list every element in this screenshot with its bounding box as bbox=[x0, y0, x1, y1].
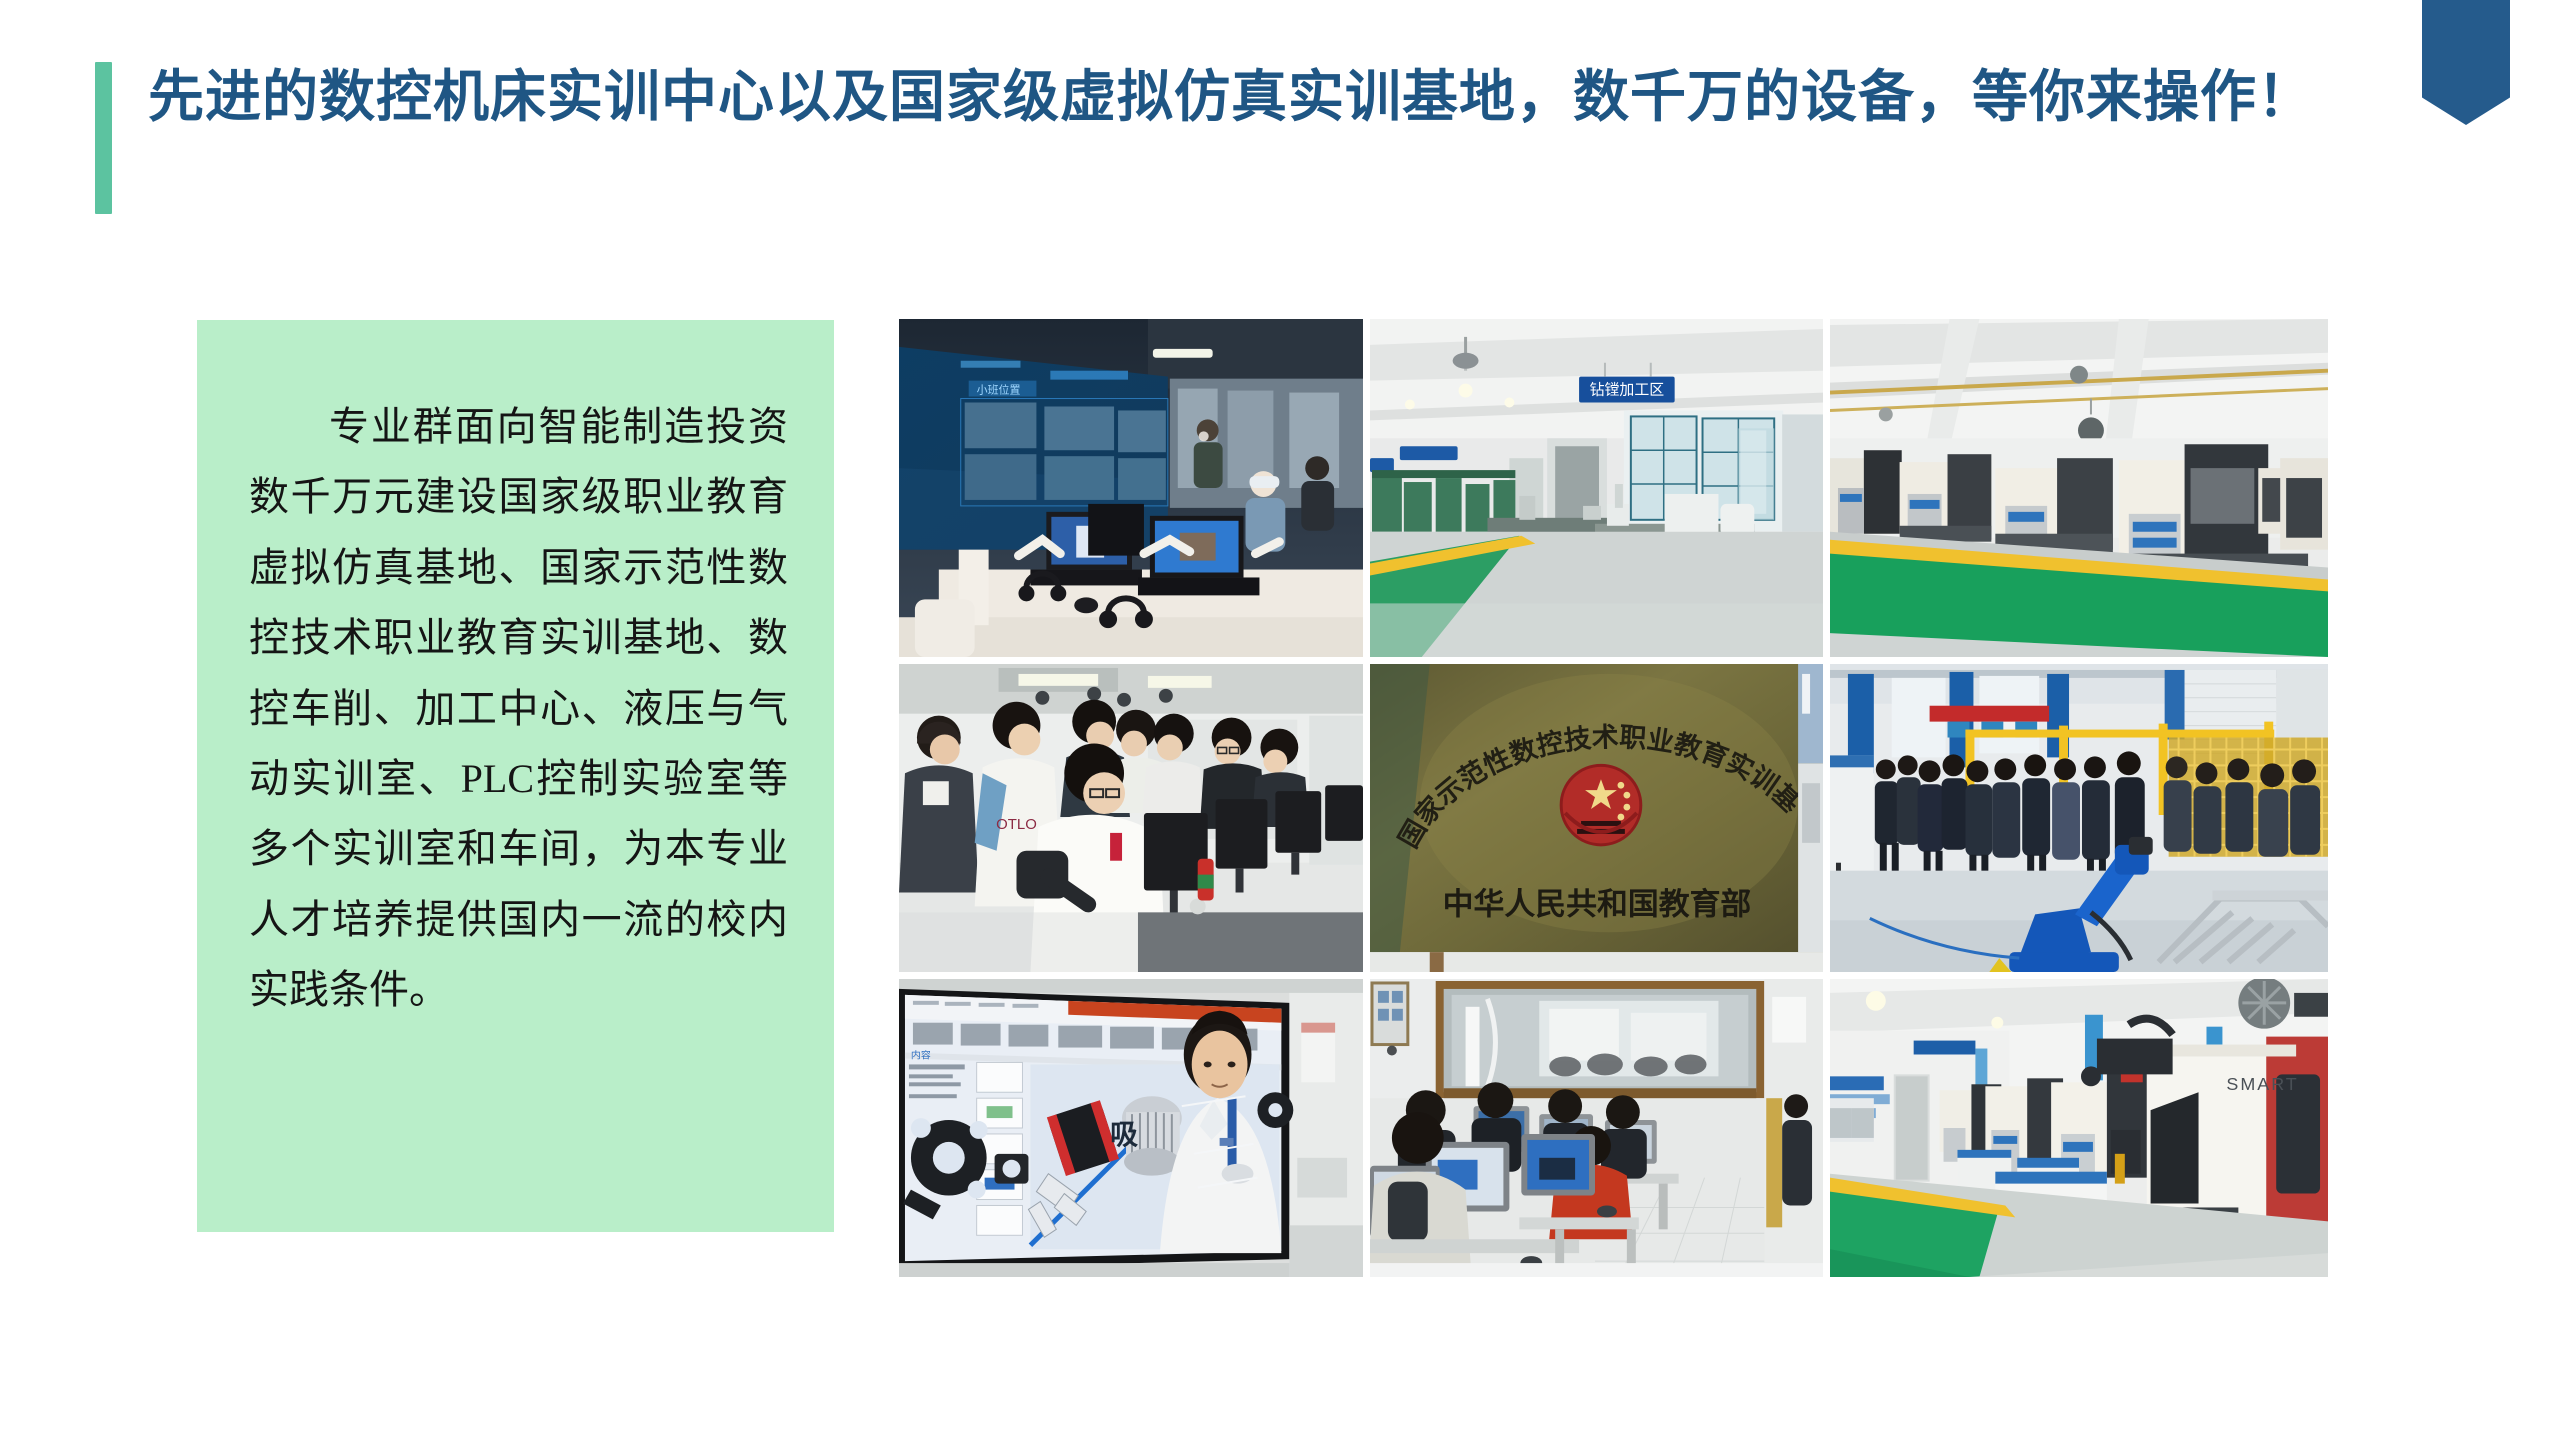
plaque-bottom-text: 中华人民共和国教育部 bbox=[1443, 886, 1752, 921]
photo-grid: 虚拟仿真实训室：大屏显示墙与VR头显工位 小班位置 bbox=[898, 318, 2341, 1273]
photo-vr-simulation-lab: 虚拟仿真实训室：大屏显示墙与VR头显工位 小班位置 bbox=[898, 318, 1364, 658]
info-panel-body-text: 专业群面向智能制造投资数千万元建设国家级职业教育虚拟仿真基地、国家示范性数控技术… bbox=[249, 392, 788, 1026]
svg-text:OTLO: OTLO bbox=[996, 817, 1037, 833]
photo-industrial-robot-demo: 学生参观工业机器人自动化产线 bbox=[1829, 663, 2329, 973]
svg-text:钻镗加工区: 钻镗加工区 bbox=[1590, 382, 1665, 399]
photo-drilling-boring-workshop: 钻镗加工区车间 钻镗加工区 bbox=[1369, 318, 1824, 658]
info-panel: 专业群面向智能制造投资数千万元建设国家级职业教育虚拟仿真基地、国家示范性数控技术… bbox=[197, 320, 834, 1232]
photo-instructor-cad-presentation: 教师在大屏演示三维装配模型 bbox=[898, 978, 1364, 1278]
page-title: 先进的数控机床实训中心以及国家级虚拟仿真实训基地，数千万的设备，等你来操作！ bbox=[95, 62, 2314, 214]
svg-text:内容: 内容 bbox=[911, 1048, 931, 1061]
corner-ribbon-decoration bbox=[2422, 0, 2510, 125]
machine-brand-label: SMART bbox=[2226, 1074, 2298, 1094]
photo-cnc-machine-corridor: 数控机床实训车间走廊 bbox=[1829, 978, 2329, 1278]
svg-text:小班位置: 小班位置 bbox=[977, 383, 1021, 397]
photo-cnc-machining-center-row: 数控加工中心机床排布车间 bbox=[1829, 318, 2329, 658]
title-text: 先进的数控机床实训中心以及国家级虚拟仿真实训基地，数千万的设备，等你来操作！ bbox=[148, 62, 2314, 135]
screen-chinese-character: 吸 bbox=[1110, 1120, 1138, 1151]
photo-cad-computer-lab: 数控编程机房上机实训 bbox=[1369, 978, 1824, 1278]
photo-national-base-plaque: 国家示范性数控技术职业教育实训基地铜牌 国家示范性数控技术职业教育实训基地 bbox=[1369, 663, 1824, 973]
photo-students-at-workstations: 学生在实训工位实操学习 bbox=[898, 663, 1364, 973]
title-accent-bar bbox=[95, 62, 112, 214]
